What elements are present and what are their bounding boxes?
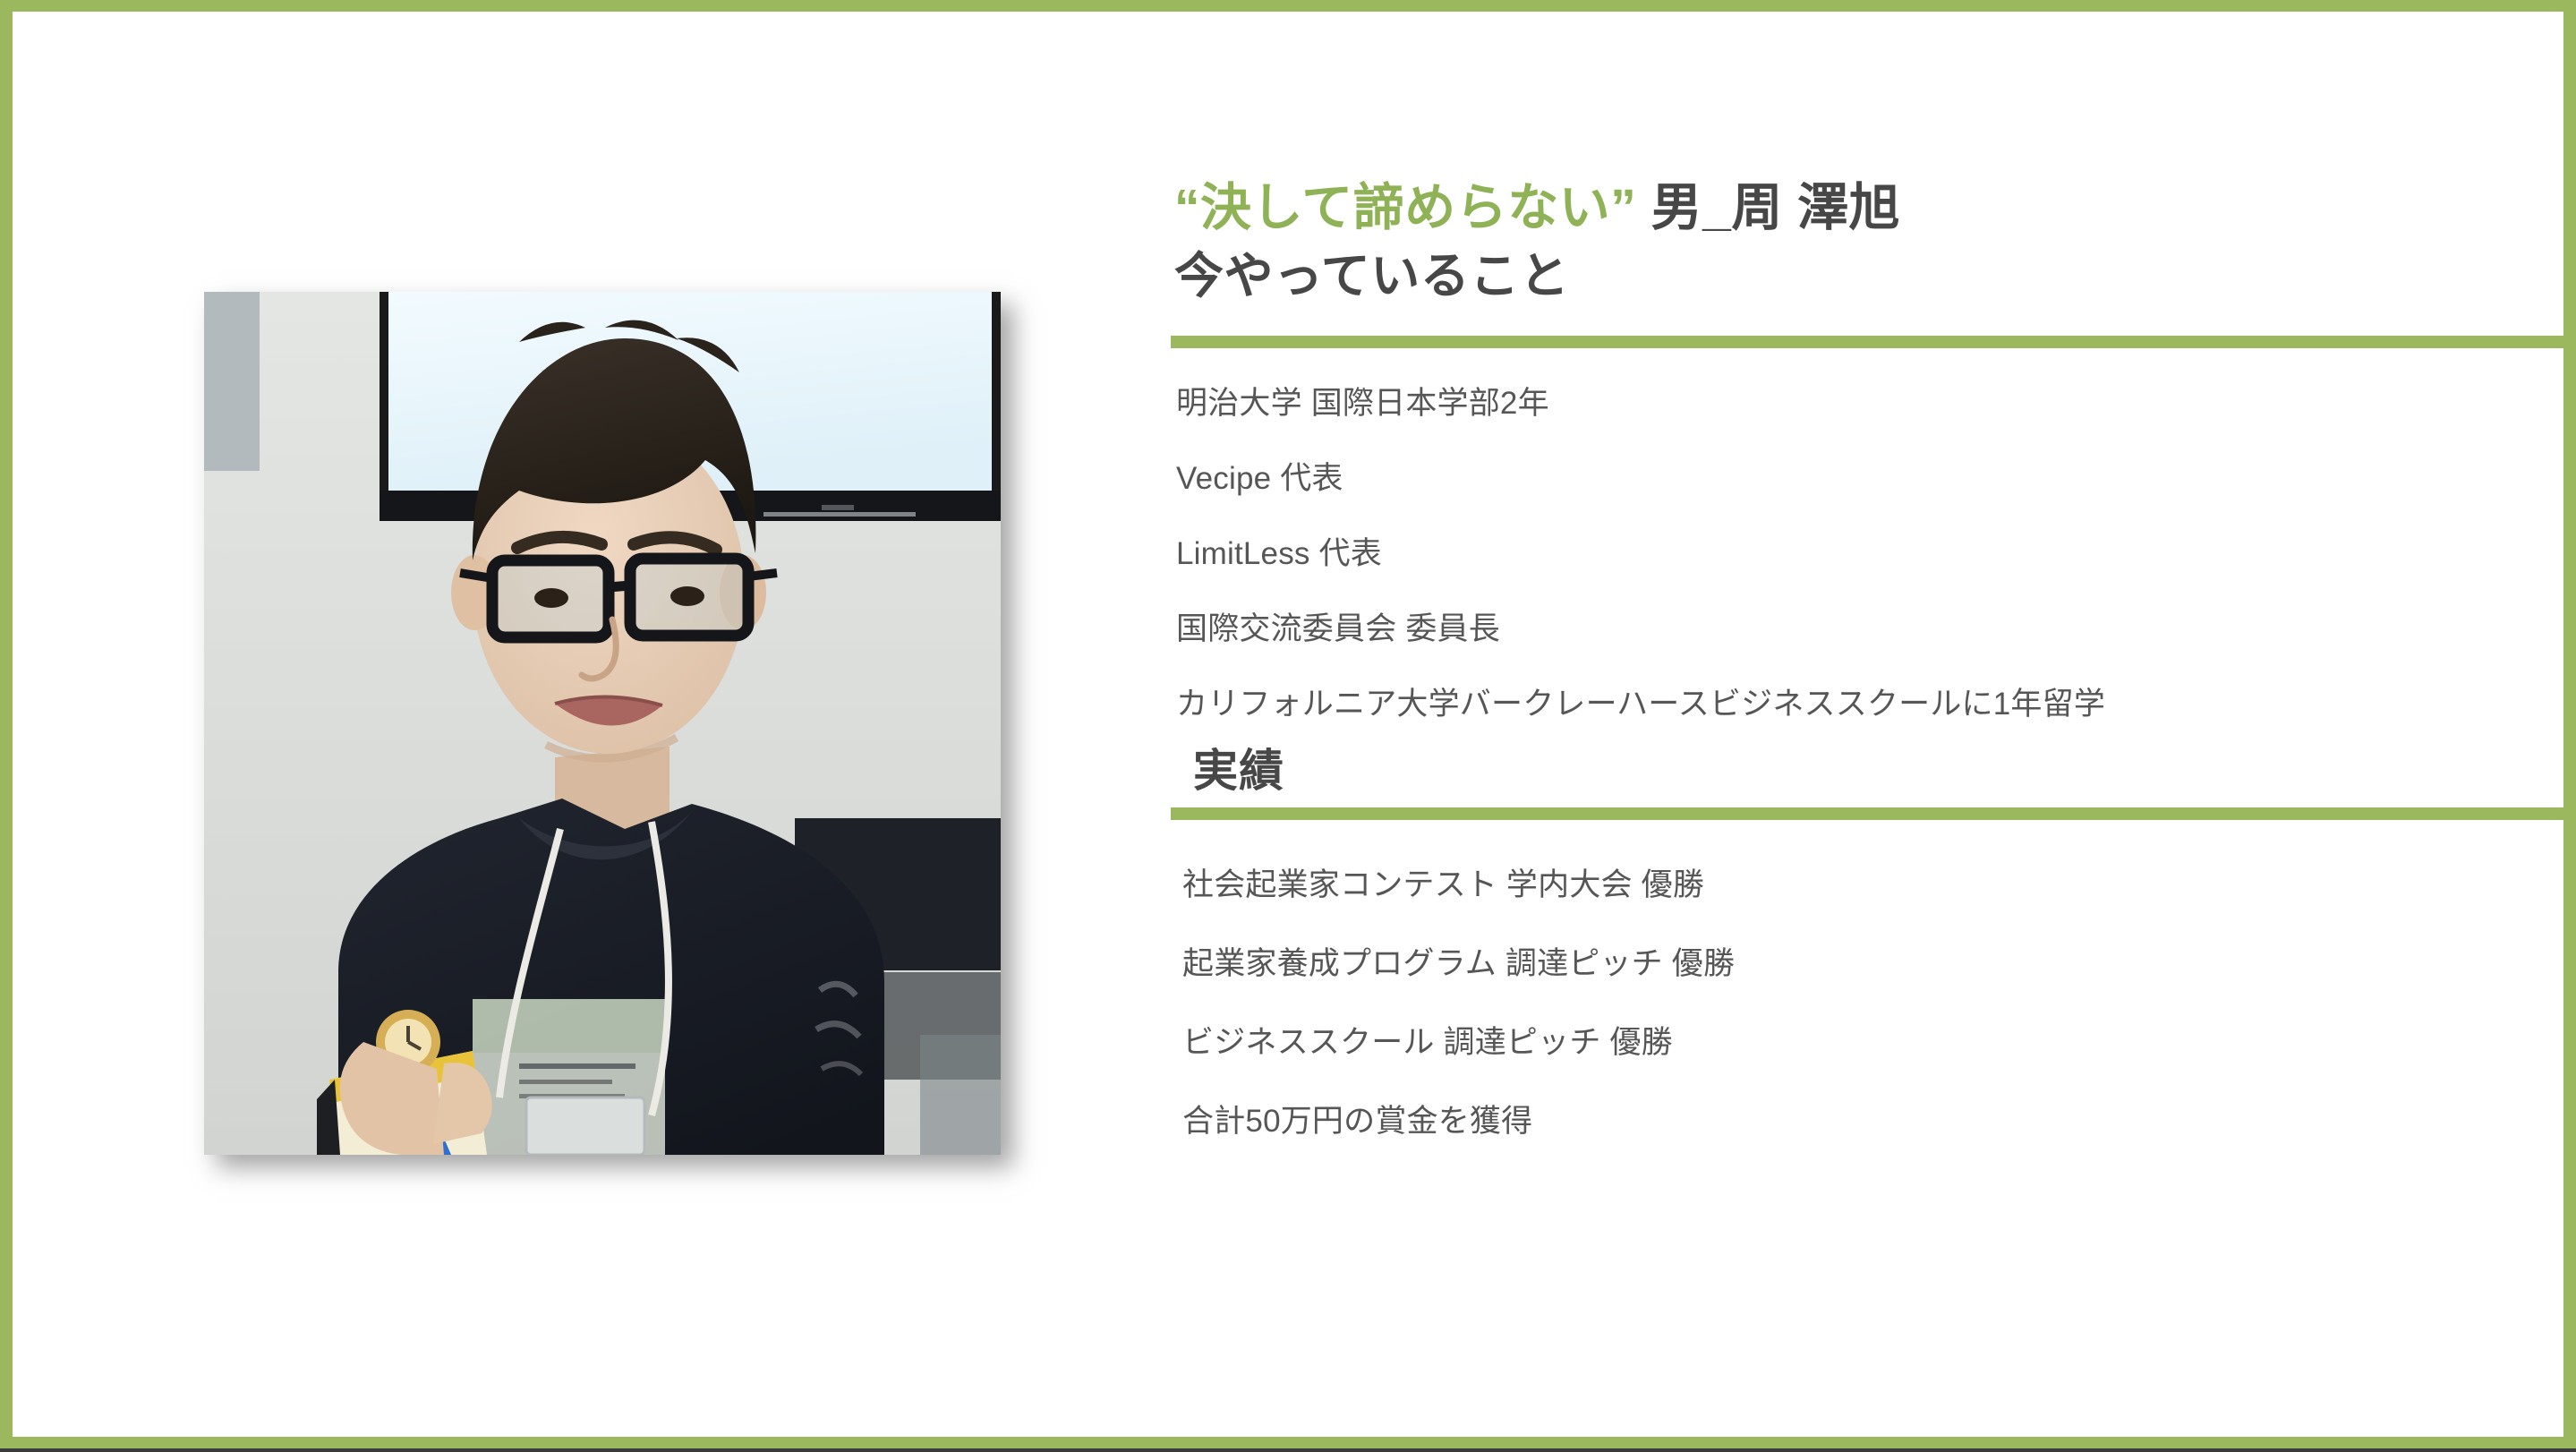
section-divider-achievements: [1171, 807, 2576, 820]
slide-border-right: [2563, 0, 2576, 1452]
speaker-photo: [204, 292, 1001, 1155]
list-item: ビジネススクール 調達ピッチ 優勝: [1182, 1027, 2576, 1058]
list-item: 合計50万円の賞金を獲得: [1182, 1106, 2576, 1137]
slide-border-top: [0, 0, 2576, 12]
list-item: カリフォルニア大学バークレーハースビジネススクールに1年留学: [1176, 688, 2576, 720]
slide-title-name: 男_周 澤旭: [1636, 179, 1900, 236]
list-item: 起業家養成プログラム 調達ピッチ 優勝: [1182, 948, 2576, 979]
slide-title-quoted: “決して諦めらない”: [1174, 179, 1636, 236]
slide-border-left: [0, 0, 13, 1452]
list-item: LimitLess 代表: [1176, 538, 2576, 569]
list-item: 国際交流委員会 委員長: [1176, 613, 2576, 645]
achievements-heading: 実績: [1193, 748, 2576, 793]
presentation-slide: “決して諦めらない” 男_周 澤旭 今やっていること 明治大学 国際日本学部2年…: [0, 0, 2576, 1452]
achievements-list: 社会起業家コンテスト 学内大会 優勝 起業家養成プログラム 調達ピッチ 優勝 ビ…: [1174, 869, 2576, 1137]
list-item: 明治大学 国際日本学部2年: [1176, 388, 2576, 419]
list-item: Vecipe 代表: [1176, 463, 2576, 494]
speaker-photo-image: [204, 292, 1001, 1155]
list-item: 社会起業家コンテスト 学内大会 優勝: [1182, 869, 2576, 901]
slide-title: “決して諦めらない” 男_周 澤旭: [1174, 175, 2576, 241]
slide-bottom-rule: [0, 1448, 2576, 1452]
section-divider-now-doing: [1171, 336, 2576, 348]
now-doing-list: 明治大学 国際日本学部2年 Vecipe 代表 LimitLess 代表 国際交…: [1174, 388, 2576, 720]
slide-content-column: “決して諦めらない” 男_周 澤旭 今やっていること 明治大学 国際日本学部2年…: [1174, 175, 2576, 1137]
slide-subtitle: 今やっていること: [1174, 244, 2576, 309]
slide-title-block: “決して諦めらない” 男_周 澤旭 今やっていること: [1174, 175, 2576, 308]
